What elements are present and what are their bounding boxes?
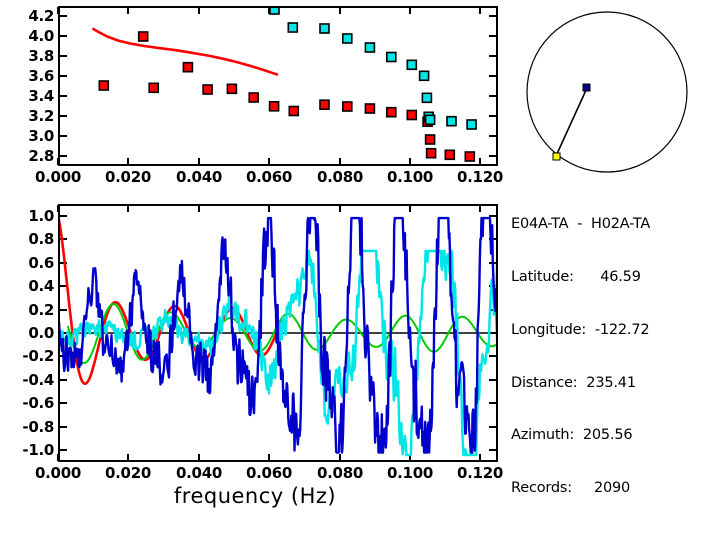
azimuth-circle-svg xyxy=(511,4,703,179)
latitude-row: Latitude: 46.59 xyxy=(511,269,703,287)
event-center-marker xyxy=(583,84,590,91)
azimuth-diagram xyxy=(511,4,703,179)
station-info-panel: E04A-TA - H02A-TA Latitude: 46.59 Longit… xyxy=(511,181,703,533)
distance-row: Distance: 235.41 xyxy=(511,375,703,393)
records-row: Records: 2090 xyxy=(511,480,703,498)
station-pair-title: E04A-TA - H02A-TA xyxy=(511,216,703,234)
longitude-row: Longitude: -122.72 xyxy=(511,322,703,340)
x-axis-caption: frequency (Hz) xyxy=(0,484,510,508)
station-marker xyxy=(553,153,560,160)
figure-root: 0.0000.0200.0400.0600.0800.1000.1202.83.… xyxy=(0,0,703,519)
azimuth-row: Azimuth: 205.56 xyxy=(511,427,703,445)
azimuth-path-line xyxy=(556,88,587,156)
azimuth-circle-outline xyxy=(527,12,687,172)
